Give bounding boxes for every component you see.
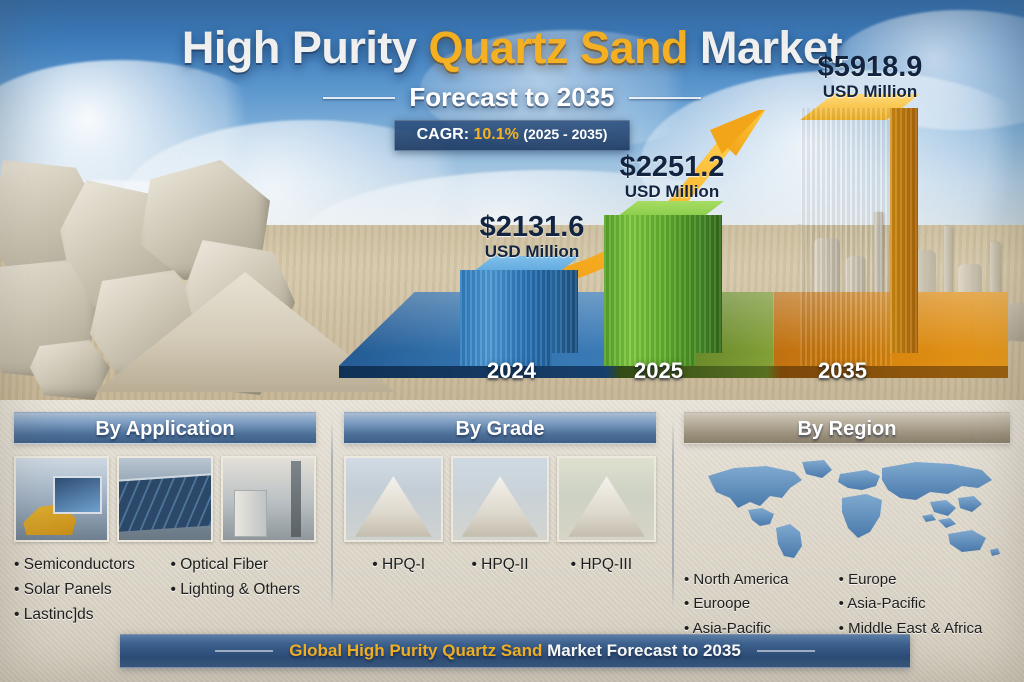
world-map-icon	[690, 454, 1020, 562]
footer-rest: Market Forecast to 2035	[542, 641, 740, 660]
value-label-2035: $5918.9 USD Million	[780, 52, 960, 102]
list-item: HPQ-I	[348, 556, 449, 574]
footer-banner: Global High Purity Quartz Sand Market Fo…	[120, 634, 910, 668]
application-bullets: Semiconductors Solar Panels Lastinc]ds O…	[14, 552, 316, 627]
solar-panels-thumbnail	[117, 456, 212, 542]
list-item: Asia-Pacific	[839, 592, 1010, 616]
list-item: HPQ-III	[551, 556, 652, 574]
quartz-sand-pile-thumbnail	[451, 456, 550, 542]
value-unit-2035: USD Million	[780, 82, 960, 102]
footer-rule-right	[757, 650, 815, 652]
list-item: Lastinc]ds	[14, 602, 170, 627]
footer-highlight: Global High Purity Quartz Sand	[289, 641, 542, 660]
panel-by-application: By Application Semiconductors Solar Pane…	[0, 412, 330, 632]
grade-bullets: HPQ-I HPQ-II HPQ-III	[344, 556, 656, 574]
value-label-2024: $2131.6 USD Million	[452, 212, 612, 262]
quartz-sand-pile-thumbnail	[344, 456, 443, 542]
list-item: Lighting & Others	[170, 577, 316, 602]
application-list-column-1: Semiconductors Solar Panels Lastinc]ds	[14, 552, 170, 627]
panel-title-grade: By Grade	[344, 412, 656, 444]
list-item: Solar Panels	[14, 577, 170, 602]
footer-rule-left	[215, 650, 273, 652]
year-label-2024: 2024	[487, 358, 536, 384]
panel-by-region: By Region	[670, 412, 1024, 632]
value-amount-2025: $2251.2	[592, 152, 752, 182]
value-amount-2024: $2131.6	[452, 212, 612, 242]
list-item: Euroope	[684, 592, 839, 616]
list-item: North America	[684, 568, 839, 592]
semiconductor-fab-thumbnail	[14, 456, 109, 542]
value-unit-2024: USD Million	[452, 242, 612, 262]
world-map-container	[684, 454, 1010, 562]
panel-title-region: By Region	[684, 412, 1010, 444]
bar-chart: $2131.6 USD Million $2251.2 USD Million …	[0, 0, 1024, 400]
panel-by-grade: By Grade HPQ-I HPQ-II HPQ-III	[330, 412, 670, 632]
list-item: Semiconductors	[14, 552, 170, 577]
application-list-column-2: Optical Fiber Lighting & Others	[170, 552, 316, 627]
region-list-column-2: Europe Asia-Pacific Middle East & Africa	[839, 568, 1010, 641]
quartz-sand-pile-thumbnail	[557, 456, 656, 542]
bar-2025	[604, 215, 696, 366]
list-item: Europe	[839, 568, 1010, 592]
year-label-2025: 2025	[634, 358, 683, 384]
value-unit-2025: USD Million	[592, 182, 752, 202]
region-list-column-1: North America Euroope Asia-Pacific	[684, 568, 839, 641]
year-label-2035: 2035	[818, 358, 867, 384]
infographic-poster: High Purity Quartz Sand Market Forecast …	[0, 0, 1024, 682]
optical-fiber-tower-thumbnail	[221, 456, 316, 542]
bar-2024	[460, 270, 552, 366]
bar-2035	[800, 108, 892, 366]
value-label-2025: $2251.2 USD Million	[592, 152, 752, 202]
list-item: Optical Fiber	[170, 552, 316, 577]
list-item: HPQ-II	[449, 556, 550, 574]
value-amount-2035: $5918.9	[780, 52, 960, 82]
region-bullets: North America Euroope Asia-Pacific Europ…	[684, 568, 1010, 641]
panel-title-application: By Application	[14, 412, 316, 444]
grade-thumbnails	[344, 456, 656, 542]
application-thumbnails	[14, 456, 316, 542]
footer-text: Global High Purity Quartz Sand Market Fo…	[289, 641, 741, 661]
